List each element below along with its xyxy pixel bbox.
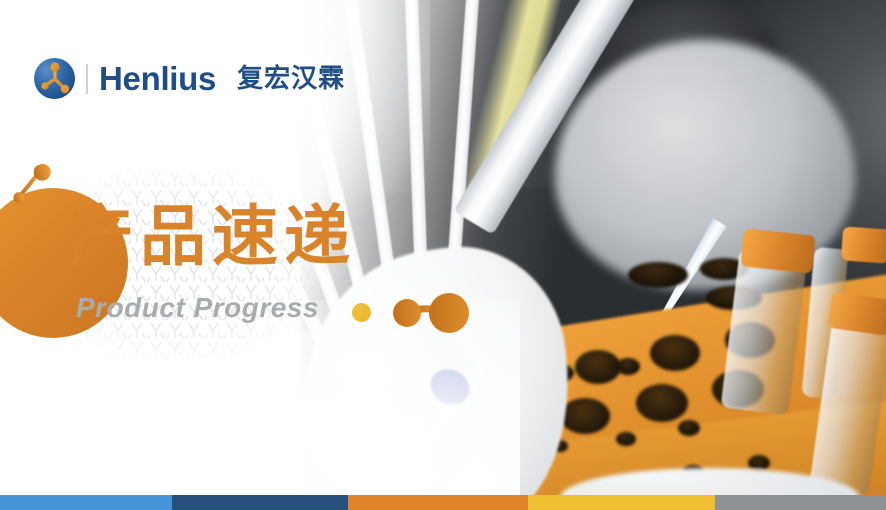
color-bar-segment-orange (348, 495, 528, 510)
color-bar-segment-light-blue (0, 495, 172, 510)
logo-chinese-name: 复宏汉霖 (237, 66, 345, 92)
decor-yellow-dot (352, 303, 371, 322)
henlius-logo[interactable]: Henlius 复宏汉霖 (34, 58, 345, 99)
color-bar-segment-gray (715, 495, 886, 510)
henlius-molecule-logo-icon (34, 58, 75, 99)
page-title-chinese: 产品速递 (68, 198, 356, 276)
color-bar-segment-dark-blue (172, 495, 348, 510)
color-bar-segment-yellow (528, 495, 715, 510)
logo-divider (86, 64, 88, 94)
brand-color-bar (0, 495, 886, 510)
logo-wordmark: Henlius (99, 62, 216, 95)
decor-dumbbell-icon (392, 290, 472, 336)
page-title-english: Product Progress (76, 292, 319, 324)
cover-slide: Henlius 复宏汉霖 产品速递 Product Progress (0, 0, 886, 510)
